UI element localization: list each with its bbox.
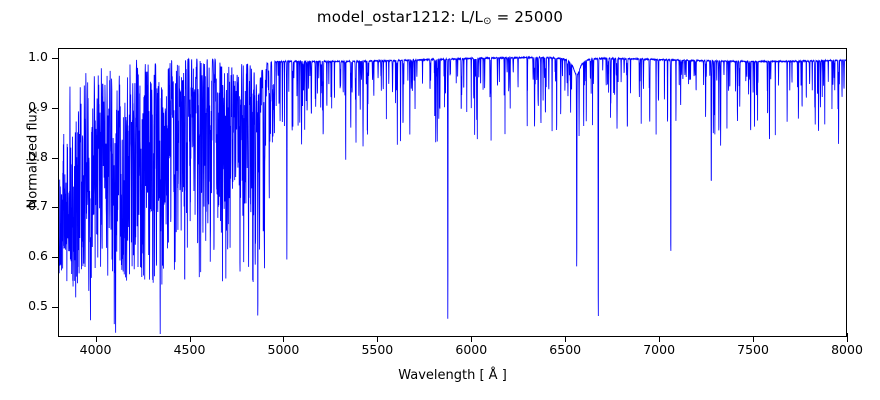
solar-symbol: ⊙ <box>483 16 492 27</box>
y-tick-label: 1.0 <box>0 51 48 64</box>
spectrum-figure: model_ostar1212: L/L⊙ = 25000 Normalized… <box>0 0 880 400</box>
y-tick-label: 0.7 <box>0 200 48 213</box>
x-tick-label: 4500 <box>155 344 225 357</box>
x-tick-label: 5500 <box>342 344 412 357</box>
chart-title: model_ostar1212: L/L⊙ = 25000 <box>0 8 880 27</box>
x-axis-label: Wavelength [ Å ] <box>58 368 847 383</box>
plot-axes <box>58 48 847 337</box>
y-tick-label: 0.6 <box>0 250 48 263</box>
y-tick-label: 0.8 <box>0 151 48 164</box>
x-tick-mark <box>847 333 848 337</box>
chart-title-main: model_ostar1212: L/L <box>317 8 483 26</box>
x-tick-label: 7000 <box>624 344 694 357</box>
x-tick-label: 5000 <box>248 344 318 357</box>
y-tick-label: 0.5 <box>0 300 48 313</box>
x-tick-label: 6500 <box>530 344 600 357</box>
chart-title-tail: = 25000 <box>492 8 563 26</box>
y-tick-label: 0.9 <box>0 101 48 114</box>
x-tick-label: 7500 <box>718 344 788 357</box>
x-tick-label: 8000 <box>812 344 880 357</box>
x-tick-label: 4000 <box>61 344 131 357</box>
spectrum-path <box>59 57 846 334</box>
spectrum-line <box>59 49 846 336</box>
x-tick-label: 6000 <box>436 344 506 357</box>
